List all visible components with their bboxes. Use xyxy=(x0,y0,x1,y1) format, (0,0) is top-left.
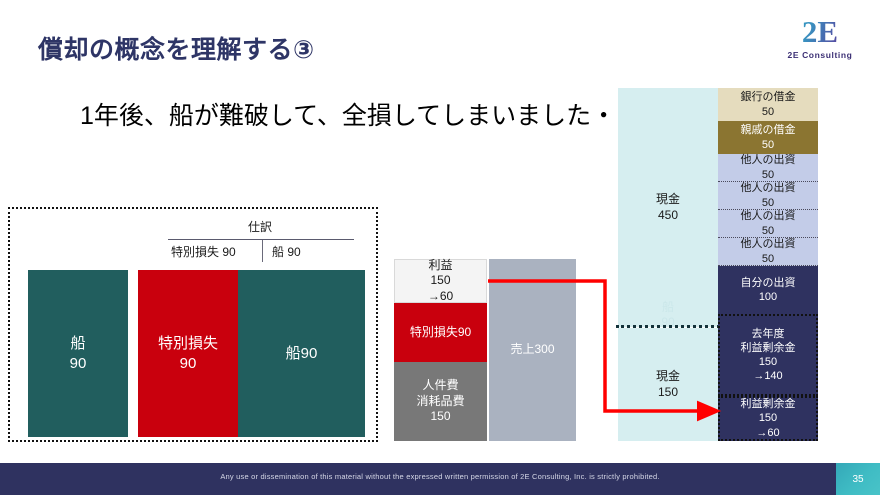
bs-liability-relative-loan: 親戚の借金 50 xyxy=(718,121,818,154)
page-title: 償却の概念を理解する③ xyxy=(38,30,315,66)
journal-block-ship-before-value: 90 xyxy=(70,354,87,373)
bs-equity-retained-earnings-after: →60 xyxy=(756,426,779,440)
bs-equity-retained-earnings-prev-label-2: 利益剰余金 xyxy=(741,341,796,355)
journal-block-ship-before: 船 90 xyxy=(28,270,128,437)
bs-cash-top-value: 450 xyxy=(658,208,678,223)
bs-equity-other-investment-2: 他人の出資 50 xyxy=(718,182,818,210)
journal-block-ship-credit-label: 船90 xyxy=(286,344,318,363)
journal-debit-entry: 特別損失 90 xyxy=(171,243,236,260)
journal-block-special-loss-label: 特別損失 xyxy=(158,334,218,353)
bs-cash-top-label: 現金 xyxy=(656,192,680,207)
brand-logo: 2E 2E Consulting xyxy=(770,16,870,60)
bs-equity-own-investment-value: 100 xyxy=(759,290,777,304)
bs-equity-other-investment-3-value: 50 xyxy=(762,224,774,238)
bs-equity-other-investment-4-label: 他人の出資 xyxy=(741,237,796,251)
footer-copyright-text: Any use or dissemination of this materia… xyxy=(0,472,880,481)
pl-profit-after: →60 xyxy=(428,289,453,304)
journal-block-special-loss-value: 90 xyxy=(180,354,197,373)
bs-liability-relative-loan-value: 50 xyxy=(762,138,774,152)
journal-column-divider xyxy=(262,240,263,262)
bs-equity-retained-earnings-prev-label-1: 去年度 xyxy=(752,327,785,341)
journal-rule xyxy=(168,239,354,240)
bs-equity-other-investment-2-value: 50 xyxy=(762,196,774,210)
page-number-badge: 35 xyxy=(836,463,880,495)
journal-title: 仕訳 xyxy=(170,218,350,235)
bs-equity-retained-earnings-prev-value: 150 xyxy=(759,355,777,369)
logo-company-name: 2E Consulting xyxy=(770,50,870,60)
bs-equity-other-investment-1: 他人の出資 50 xyxy=(718,154,818,182)
bs-equity-other-investment-3: 他人の出資 50 xyxy=(718,210,818,238)
journal-block-special-loss: 特別損失 90 xyxy=(138,270,238,437)
pl-special-loss-label: 特別損失90 xyxy=(410,325,471,340)
pl-expenses-value: 150 xyxy=(430,409,450,424)
pl-profit-value: 150 xyxy=(430,273,450,288)
bs-liability-bank-loan-label: 銀行の借金 xyxy=(741,90,796,104)
bs-equity-other-investment-4: 他人の出資 50 xyxy=(718,238,818,266)
slide-subtitle: 1年後、船が難破して、全損してしまいました・・・ xyxy=(80,96,666,132)
bs-equity-retained-earnings-label: 利益剰余金 xyxy=(741,397,796,411)
journal-credit-entry: 船 90 xyxy=(272,243,301,260)
bs-equity-other-investment-4-value: 50 xyxy=(762,252,774,266)
bs-liability-bank-loan-value: 50 xyxy=(762,105,774,119)
logo-mark-icon: 2E xyxy=(770,16,870,47)
bs-equity-other-investment-2-label: 他人の出資 xyxy=(741,181,796,195)
journal-block-ship-before-label: 船 xyxy=(70,334,85,353)
pl-expenses-label-2: 消耗品費 xyxy=(416,394,464,409)
bs-equity-other-investment-1-label: 他人の出資 xyxy=(741,153,796,167)
profit-to-retained-earnings-arrow xyxy=(470,270,740,430)
bs-equity-own-investment-label: 自分の出資 xyxy=(741,276,796,290)
pl-expenses-label-1: 人件費 xyxy=(422,378,458,393)
bs-equity-other-investment-3-label: 他人の出資 xyxy=(741,209,796,223)
slide-canvas: 償却の概念を理解する③ 1年後、船が難破して、全損してしまいました・・・ 2E … xyxy=(0,0,880,495)
bs-equity-other-investment-1-value: 50 xyxy=(762,168,774,182)
pl-profit-label: 利益 xyxy=(428,258,452,273)
journal-block-ship-credit: 船90 xyxy=(238,270,365,437)
bs-equity-retained-earnings-value: 150 xyxy=(759,411,777,425)
bs-equity-retained-earnings-prev-after: →140 xyxy=(753,369,782,383)
bs-liability-relative-loan-label: 親戚の借金 xyxy=(741,123,796,137)
slide-footer: Any use or dissemination of this materia… xyxy=(0,463,880,495)
bs-liability-bank-loan: 銀行の借金 50 xyxy=(718,88,818,121)
